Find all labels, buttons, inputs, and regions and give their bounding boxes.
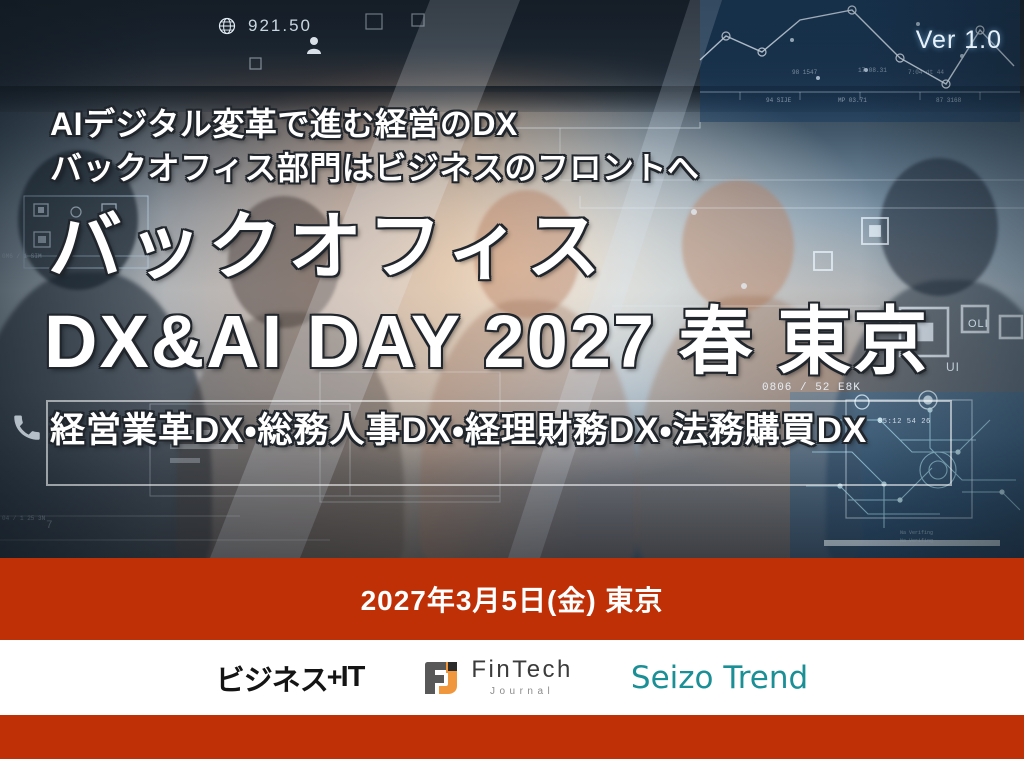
fintech-main-text: FinTech bbox=[471, 658, 573, 682]
logo-business-it[interactable]: ビジネス+IT bbox=[216, 657, 365, 699]
hero-banner: 98 1547 17 08.31 7:04 dt 44 94 SIJE MP 0… bbox=[0, 0, 1024, 558]
hero-title-line-1: バックオフィス bbox=[48, 210, 607, 284]
event-poster: 98 1547 17 08.31 7:04 dt 44 94 SIJE MP 0… bbox=[0, 0, 1024, 759]
bottom-accent-bar bbox=[0, 715, 1024, 759]
hero-title-line-2: DX&AI DAY 2027 春 東京 bbox=[44, 305, 929, 379]
phone-icon bbox=[10, 410, 44, 449]
sponsor-logo-bar: ビジネス+IT FinTech Journal Seizo Trend bbox=[0, 640, 1024, 715]
hud-code-primary: 0806 / 52 E8K bbox=[762, 382, 861, 394]
logo-seizo-trend[interactable]: Seizo Trend bbox=[631, 660, 808, 696]
logo-business-it-plus: + bbox=[327, 662, 342, 693]
hud-ui-label: UI bbox=[946, 360, 960, 374]
hud-ticker: 921.50 bbox=[218, 16, 312, 36]
logo-business-it-main: ビジネス bbox=[216, 657, 328, 699]
ticker-value: 921.50 bbox=[248, 16, 312, 36]
logo-business-it-wordmark: ビジネス+IT bbox=[216, 657, 365, 699]
logo-fintech-journal[interactable]: FinTech Journal bbox=[422, 658, 573, 697]
user-icon bbox=[306, 36, 322, 54]
event-date-bar: 2027年3月5日(金) 東京 bbox=[0, 558, 1024, 640]
fj-mark-icon bbox=[422, 659, 460, 697]
logo-business-it-suffix: IT bbox=[341, 661, 365, 694]
version-label: Ver 1.0 bbox=[916, 26, 1002, 55]
hero-kicker: AIデジタル変革で進む経営のDX バックオフィス部門はビジネスのフロントへ bbox=[50, 102, 980, 190]
hud-oli-label: OLI bbox=[968, 318, 989, 330]
event-date-text: 2027年3月5日(金) 東京 bbox=[361, 579, 664, 619]
subtitle-box-text: 経営業革DX・総務人事DX・経理財務DX・法務購買DX bbox=[50, 412, 950, 451]
fintech-wordmark: FinTech Journal bbox=[471, 658, 573, 697]
logo-seizo-trend-wordmark: Seizo Trend bbox=[631, 660, 808, 696]
fintech-sub-text: Journal bbox=[471, 687, 573, 697]
globe-icon bbox=[218, 17, 236, 35]
